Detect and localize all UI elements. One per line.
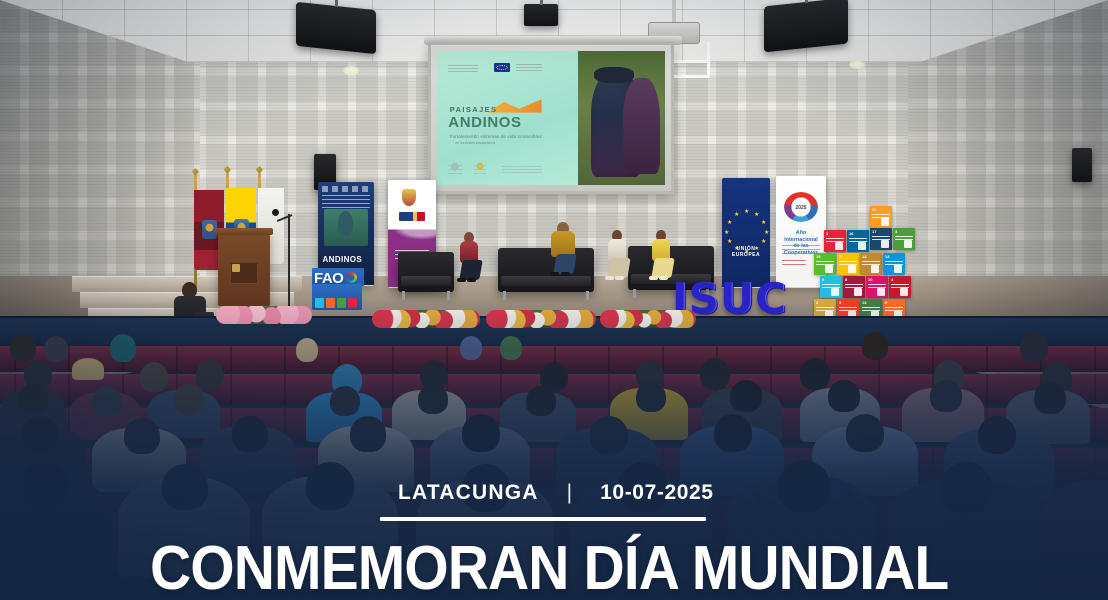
photo-card: PAISAJES ANDINOS Fortaleciendo sistemas … — [0, 0, 1108, 600]
mini-sdg-cube — [348, 298, 357, 308]
audience-head — [22, 416, 58, 452]
mini-sdg-cube — [315, 298, 324, 308]
panelist-2 — [548, 222, 578, 284]
panelist-1 — [456, 232, 482, 286]
wall-speaker-right — [1072, 148, 1092, 182]
caption-row: LATACUNGA | 10-07-2025 — [398, 481, 714, 505]
mini-sdg-cube — [337, 298, 346, 308]
audience-head — [800, 358, 830, 390]
sdg-block: 14 — [883, 253, 905, 275]
audience-head — [636, 382, 666, 412]
fao-logo-icon — [448, 63, 478, 72]
panelist-3 — [604, 230, 630, 288]
slide-logo-ecuador — [474, 162, 486, 174]
audience-head — [418, 384, 448, 414]
microphone-icon — [272, 209, 279, 216]
ceiling-speaker-center — [524, 4, 558, 26]
audience-head — [232, 416, 268, 452]
fao-ring-icon — [346, 272, 357, 283]
audience-head — [44, 336, 68, 362]
sdg-block: 10 — [866, 276, 888, 298]
audience-head — [330, 386, 360, 416]
slide-photo — [578, 51, 665, 185]
sdg-block: 4 — [889, 276, 911, 298]
sdg-block: 1 — [824, 230, 846, 252]
slide-left-panel: PAISAJES ANDINOS Fortaleciendo sistemas … — [437, 51, 578, 185]
banner-year: 2025 — [791, 205, 811, 211]
mini-sdg-cube — [326, 298, 335, 308]
audience-head — [862, 332, 888, 360]
flower-arrangement-2 — [486, 310, 596, 328]
sdg-block: 3 — [893, 228, 915, 250]
slide-title-large: ANDINOS — [448, 114, 521, 131]
armchair-left — [398, 252, 454, 292]
audience-head — [462, 414, 500, 452]
audience-head — [730, 380, 762, 412]
slide-logo-bottom-left — [448, 162, 462, 174]
audience-head — [1034, 382, 1066, 414]
downlight — [343, 66, 359, 75]
banner-title: ANDINOS — [322, 255, 362, 264]
audience-head — [460, 336, 482, 360]
audience-head — [10, 334, 36, 362]
audience-head — [296, 338, 318, 362]
caption-divider — [380, 517, 706, 521]
audience-head — [350, 416, 386, 452]
slide-subtitle-2: en los Andes ecuatorianos — [455, 141, 495, 145]
headline: CONMEMORAN DÍA MUNDIAL — [150, 540, 960, 598]
slide-subtitle: Fortaleciendo sistemas de vida sostenibl… — [450, 134, 542, 139]
slide-photo-hat — [594, 67, 634, 83]
ceiling-speaker-left — [296, 2, 376, 54]
sdg-block: 15 — [814, 253, 836, 275]
sdg-block: 17 — [870, 228, 892, 250]
slide-logo-bottom-right — [502, 165, 542, 173]
caption-date: 10-07-2025 — [600, 481, 713, 505]
caption-separator: | — [567, 481, 572, 505]
audience-head — [306, 462, 354, 510]
audience-head — [828, 380, 860, 412]
sdg-block-wall: 11 1 16 17 3 15 7 12 14 6 8 10 4 2 5 13 … — [824, 210, 920, 306]
audience-head — [940, 462, 992, 514]
audience-head — [18, 384, 48, 414]
flower-arrangement-pink — [216, 306, 312, 324]
flower-arrangement-3 — [600, 310, 696, 328]
sdg-block: 16 — [847, 230, 869, 252]
audience-head — [174, 384, 204, 414]
caption-city: LATACUNGA — [398, 481, 539, 505]
banner-eu-label: UNIÓN EUROPEA — [722, 246, 770, 258]
audience-head — [930, 380, 962, 412]
podium — [218, 232, 270, 306]
audience-head — [92, 386, 122, 416]
audience-head — [714, 414, 752, 452]
audience-head — [22, 462, 68, 508]
flower-arrangement-1 — [372, 310, 480, 328]
sdg-block: 7 — [837, 253, 859, 275]
audience-head — [978, 416, 1016, 454]
downlight — [849, 60, 865, 69]
audience-head — [526, 386, 556, 416]
sdg-block: 11 — [870, 206, 892, 228]
banner-union-europea: ★ ★ ★ ★ ★ ★ ★ ★ ★ ★ ★ ★ UNIÓN EUROPEA — [722, 178, 770, 288]
audience-head — [846, 414, 884, 452]
audience-head — [1020, 332, 1048, 362]
panelist-4 — [648, 230, 674, 288]
audience-head — [196, 360, 224, 390]
audience-head — [162, 464, 208, 510]
audience-head — [110, 334, 136, 362]
audience-head — [590, 416, 628, 454]
slide-title-small: PAISAJES — [450, 105, 498, 114]
microphone-stand — [288, 214, 290, 310]
sdg-block: 6 — [820, 276, 842, 298]
presentation-slide: PAISAJES ANDINOS Fortaleciendo sistemas … — [437, 51, 665, 185]
sdg-block: 12 — [860, 253, 882, 275]
audience-person — [1040, 482, 1108, 588]
fao-table — [312, 284, 362, 310]
audience-head — [700, 358, 730, 390]
sofa-center — [498, 248, 594, 292]
slide-photo-person-2 — [623, 78, 659, 174]
audience-head — [778, 460, 830, 512]
audience-hat — [72, 358, 104, 380]
audience-head — [500, 336, 522, 360]
audience-head — [140, 362, 168, 392]
audience-head — [124, 418, 160, 454]
slide-partner-text — [516, 63, 542, 71]
sdg-block: 8 — [843, 276, 865, 298]
ceiling-speaker-right — [764, 0, 848, 52]
eu-flag-icon — [494, 63, 510, 72]
projection-screen: PAISAJES ANDINOS Fortaleciendo sistemas … — [428, 42, 674, 194]
